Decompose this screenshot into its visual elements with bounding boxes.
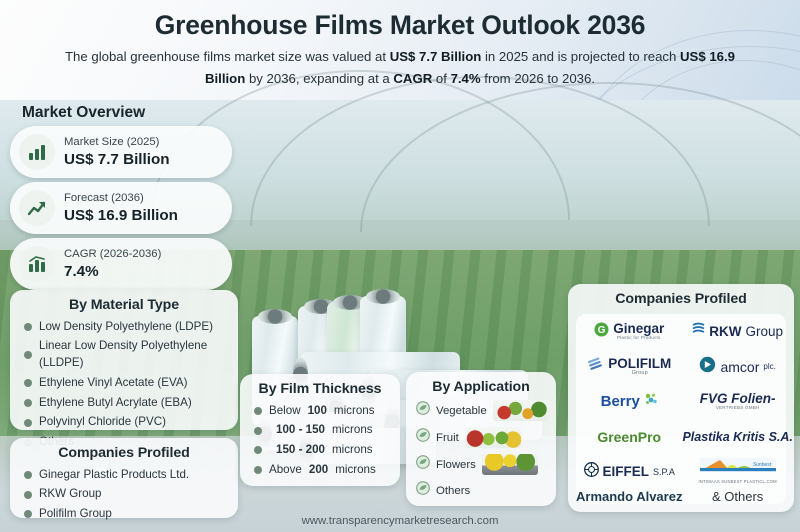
subtitle-cagr-label: CAGR <box>393 71 432 86</box>
overview-card-cagr: CAGR (2026-2036) 7.4% <box>10 238 232 290</box>
subtitle-cagr-value: 7.4% <box>451 71 481 86</box>
application-label: Vegetable <box>436 405 487 417</box>
company-logo-grid: G Ginegar Plastic for Products RKW Group… <box>576 314 786 504</box>
thickness-suffix: microns <box>334 403 375 420</box>
eiffel-mark-icon <box>584 462 599 482</box>
list-item-label: Polyvinyl Chloride (PVC) <box>39 414 166 431</box>
logo-sublabel: VERTRIEBS GMBH <box>716 406 760 411</box>
subtitle-value-2025: US$ 7.7 Billion <box>390 49 482 64</box>
overview-value: US$ 7.7 Billion <box>64 150 170 169</box>
thickness-suffix: microns <box>332 422 373 439</box>
thickness-prefix: Below <box>269 403 301 420</box>
logo-label: & Others <box>712 489 763 504</box>
bullet-dot <box>24 471 32 479</box>
logo-rkw-group: RKW Group <box>682 322 792 341</box>
list-item: Linear Low Density Polyethylene (LLDPE) <box>10 337 238 374</box>
logo-armando-alvarez: Armando Alvarez <box>576 489 682 504</box>
film-thickness-title: By Film Thickness <box>240 374 400 397</box>
berry-mark-icon <box>644 392 658 411</box>
application-label: Flowers <box>436 459 476 471</box>
companies-left-panel: Companies Profiled Ginegar Plastic Produ… <box>10 438 238 518</box>
material-type-panel: By Material Type Low Density Polyethylen… <box>10 290 238 430</box>
logo-label: POLIFILM <box>608 357 671 371</box>
infographic-canvas: Greenhouse Films Market Outlook 2036 The… <box>0 0 800 532</box>
bullet-dot <box>24 323 32 331</box>
leaf-circle-icon <box>416 455 430 474</box>
logo-label: GreenPro <box>597 429 661 445</box>
svg-text:G: G <box>598 325 606 336</box>
application-label: Others <box>436 485 470 497</box>
bullet-dot <box>24 491 32 499</box>
logo-berry: Berry <box>576 392 682 411</box>
logo-label: Plastika Kritis S.A. <box>682 430 792 444</box>
svg-text:Sunbest: Sunbest <box>752 462 771 468</box>
subtitle-seg: by 2036, expanding at a <box>245 71 393 86</box>
list-item-label: Ethylene Butyl Acrylate (EBA) <box>39 395 192 412</box>
fruit-photo <box>465 427 521 448</box>
bullet-dot <box>24 379 32 387</box>
companies-right-title: Companies Profiled <box>568 284 794 307</box>
logo-eiffel: EIFFEL S.P.A <box>576 462 682 482</box>
thickness-suffix: microns <box>332 442 373 459</box>
overview-card-forecast: Forecast (2036) US$ 16.9 Billion <box>10 182 232 234</box>
overview-card-market-size: Market Size (2025) US$ 7.7 Billion <box>10 126 232 178</box>
list-item: Low Density Polyethylene (LDPE) <box>10 317 238 337</box>
amcor-mark-icon <box>699 356 716 378</box>
logo-suffix: Group <box>746 324 784 339</box>
logo-sublabel: Plastic for Products <box>617 336 661 341</box>
overview-label: Market Size (2025) <box>64 135 170 149</box>
logo-sublabel: Group <box>632 371 648 377</box>
list-item: Above 200 microns <box>240 460 400 480</box>
sunbest-mark-icon: Sunbest <box>700 458 776 480</box>
list-item: Ethylene Vinyl Acetate (EVA) <box>10 373 238 393</box>
material-type-title: By Material Type <box>10 290 238 313</box>
logo-greenpro: GreenPro <box>576 429 682 445</box>
logo-plastika-kritis: Plastika Kritis S.A. <box>682 430 792 444</box>
overview-value: US$ 16.9 Billion <box>64 206 178 225</box>
logo-label: Armando Alvarez <box>576 489 682 504</box>
list-item-label: Ethylene Vinyl Acetate (EVA) <box>39 375 187 392</box>
list-item: Flowers <box>416 454 556 475</box>
footer-url: www.transparencymarketresearch.com <box>0 515 800 527</box>
logo-sunbest: Sunbest INTIMAAS SUNBEST PLASTICL.COM <box>682 458 792 484</box>
subtitle-seg: The global greenhouse films market size … <box>65 49 390 64</box>
logo-suffix: plc. <box>763 362 775 371</box>
logo-amcor: amcor plc. <box>682 356 792 378</box>
page-title: Greenhouse Films Market Outlook 2036 <box>0 10 800 41</box>
list-item: Fruit <box>416 427 556 448</box>
application-list: Vegetable Fruit Flowers Others <box>406 395 556 500</box>
list-item: 100 - 150 microns <box>240 421 400 441</box>
companies-right-panel: Companies Profiled G Ginegar Plastic for… <box>568 284 794 512</box>
leaf-circle-icon <box>416 428 430 447</box>
film-thickness-panel: By Film Thickness Below 100 microns 100 … <box>240 374 400 486</box>
polifilm-mark-icon <box>587 356 604 377</box>
list-item: Ginegar Plastic Products Ltd. <box>10 465 238 485</box>
list-item-label: Low Density Polyethylene (LDPE) <box>39 319 213 336</box>
list-item-label: RKW Group <box>39 486 102 503</box>
list-item-label: Linear Low Density Polyethylene (LLDPE) <box>39 338 238 372</box>
application-label: Fruit <box>436 432 459 444</box>
material-type-list: Low Density Polyethylene (LDPE) Linear L… <box>10 313 238 453</box>
list-item: Vegetable <box>416 400 556 421</box>
trending-up-arrow-icon <box>19 190 55 226</box>
companies-left-title: Companies Profiled <box>10 438 238 461</box>
list-item: 150 - 200 microns <box>240 441 400 461</box>
list-item: Others <box>416 481 556 500</box>
thickness-prefix: Above <box>269 462 302 479</box>
bullet-dot <box>254 466 262 474</box>
list-item: Polyvinyl Chloride (PVC) <box>10 413 238 433</box>
thickness-value: 200 <box>309 462 328 479</box>
subtitle-seg: of <box>432 71 450 86</box>
g-mark-icon: G <box>594 322 609 342</box>
vegetable-photo <box>493 400 549 421</box>
logo-ginegar: G Ginegar Plastic for Products <box>576 322 682 342</box>
leaf-circle-icon <box>416 401 430 420</box>
overview-value: 7.4% <box>64 262 161 281</box>
logo-label: Berry <box>601 393 640 410</box>
logo-fvg-folien: FVG Folien- VERTRIEBS GMBH <box>682 392 792 411</box>
logo-sublabel: INTIMAAS SUNBEST PLASTICL.COM <box>699 480 777 484</box>
logo-label: amcor <box>720 359 759 375</box>
logo-polifilm: POLIFILM Group <box>576 356 682 377</box>
logo-label: EIFFEL <box>603 464 650 479</box>
logo-label: RKW <box>709 324 741 339</box>
overview-label: Forecast (2036) <box>64 191 178 205</box>
logo-and-others: & Others <box>682 489 792 504</box>
bullet-dot <box>254 407 262 415</box>
subtitle-seg: from 2026 to 2036. <box>481 71 595 86</box>
rkw-mark-icon <box>692 322 705 341</box>
application-title: By Application <box>406 372 556 395</box>
thickness-value: 100 <box>308 403 327 420</box>
thickness-value: 100 - 150 <box>276 422 325 439</box>
bullet-dot <box>254 446 262 454</box>
subtitle-seg: in 2025 and is projected to reach <box>481 49 680 64</box>
logo-label: Ginegar <box>613 322 664 336</box>
market-overview-heading: Market Overview <box>22 104 145 122</box>
logo-suffix: S.P.A <box>653 467 675 477</box>
overview-label: CAGR (2026-2036) <box>64 247 161 261</box>
thickness-value: 150 - 200 <box>276 442 325 459</box>
leaf-circle-icon <box>416 481 430 500</box>
bullet-dot <box>24 351 32 359</box>
list-item: Ethylene Butyl Acrylate (EBA) <box>10 393 238 413</box>
bullet-dot <box>24 399 32 407</box>
list-item-label: Ginegar Plastic Products Ltd. <box>39 467 189 484</box>
logo-label: FVG Folien- <box>700 392 776 406</box>
page-subtitle: The global greenhouse films market size … <box>60 46 740 90</box>
list-item: Below 100 microns <box>240 401 400 421</box>
bullet-dot <box>254 427 262 435</box>
application-panel: By Application Vegetable Fruit Flowers O… <box>406 372 556 506</box>
list-item: RKW Group <box>10 485 238 505</box>
thickness-suffix: microns <box>335 462 376 479</box>
growth-chart-icon <box>19 246 55 282</box>
film-thickness-list: Below 100 microns 100 - 150 microns 150 … <box>240 397 400 480</box>
flowers-photo <box>482 454 538 475</box>
bar-chart-icon <box>19 134 55 170</box>
bullet-dot <box>24 419 32 427</box>
